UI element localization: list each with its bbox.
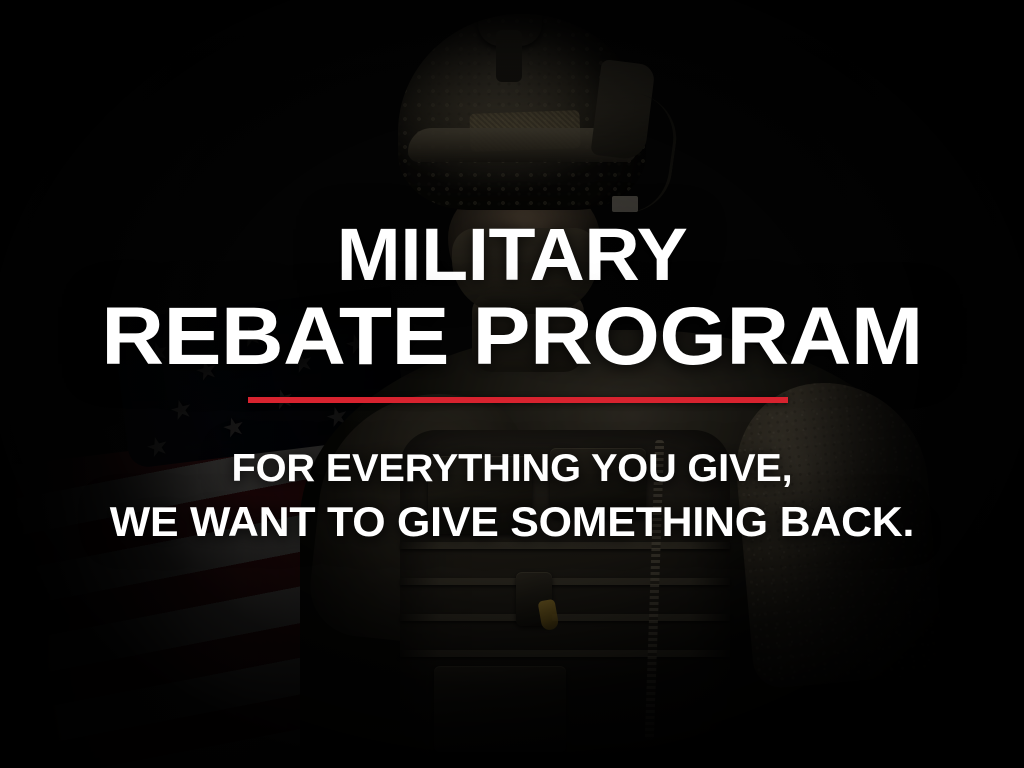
subhead-line-2: WE WANT TO GIVE SOMETHING BACK.: [0, 501, 1024, 543]
banner-content: MILITARY REBATE PROGRAM FOR EVERYTHING Y…: [0, 0, 1024, 768]
subhead-line-1: FOR EVERYTHING YOU GIVE,: [0, 449, 1024, 488]
red-divider-rule: [248, 397, 788, 403]
military-rebate-banner: MILITARY REBATE PROGRAM FOR EVERYTHING Y…: [0, 0, 1024, 768]
headline-line-1: MILITARY: [0, 218, 1024, 292]
headline-line-2: REBATE PROGRAM: [0, 296, 1024, 378]
